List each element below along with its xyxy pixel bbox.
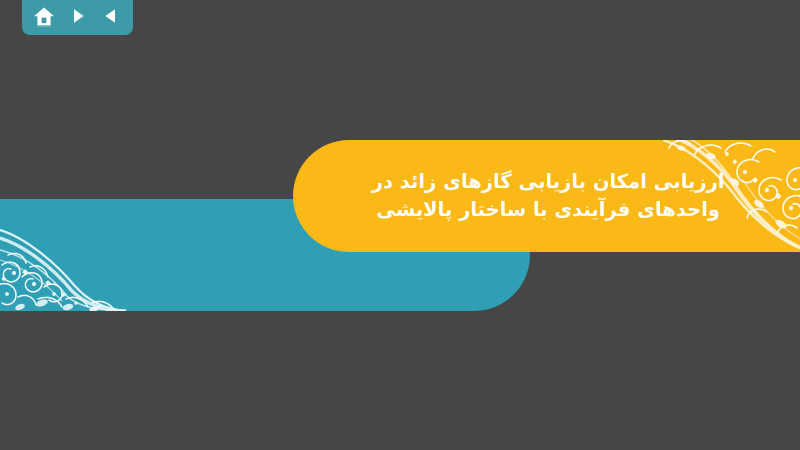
slide-title-line-2: واحدهای فرآیندی با ساختار پالایشی <box>376 196 720 224</box>
orange-title-panel: ارزیابی امکان بازیابی گازهای زائد در واح… <box>293 140 800 252</box>
arabesque-corner-ornament <box>0 215 126 311</box>
next-slide-button[interactable] <box>65 3 91 29</box>
slide-title: ارزیابی امکان بازیابی گازهای زائد در واح… <box>293 140 800 252</box>
home-icon <box>33 6 55 27</box>
back-arrow-icon <box>102 7 120 25</box>
previous-slide-button[interactable] <box>98 3 124 29</box>
presentation-slide: ارزیابی امکان بازیابی گازهای زائد در واح… <box>0 0 800 450</box>
forward-arrow-icon <box>69 7 87 25</box>
home-button[interactable] <box>31 3 57 29</box>
slide-title-line-1: ارزیابی امکان بازیابی گازهای زائد در <box>372 168 725 196</box>
navigation-toolbar <box>22 0 133 35</box>
